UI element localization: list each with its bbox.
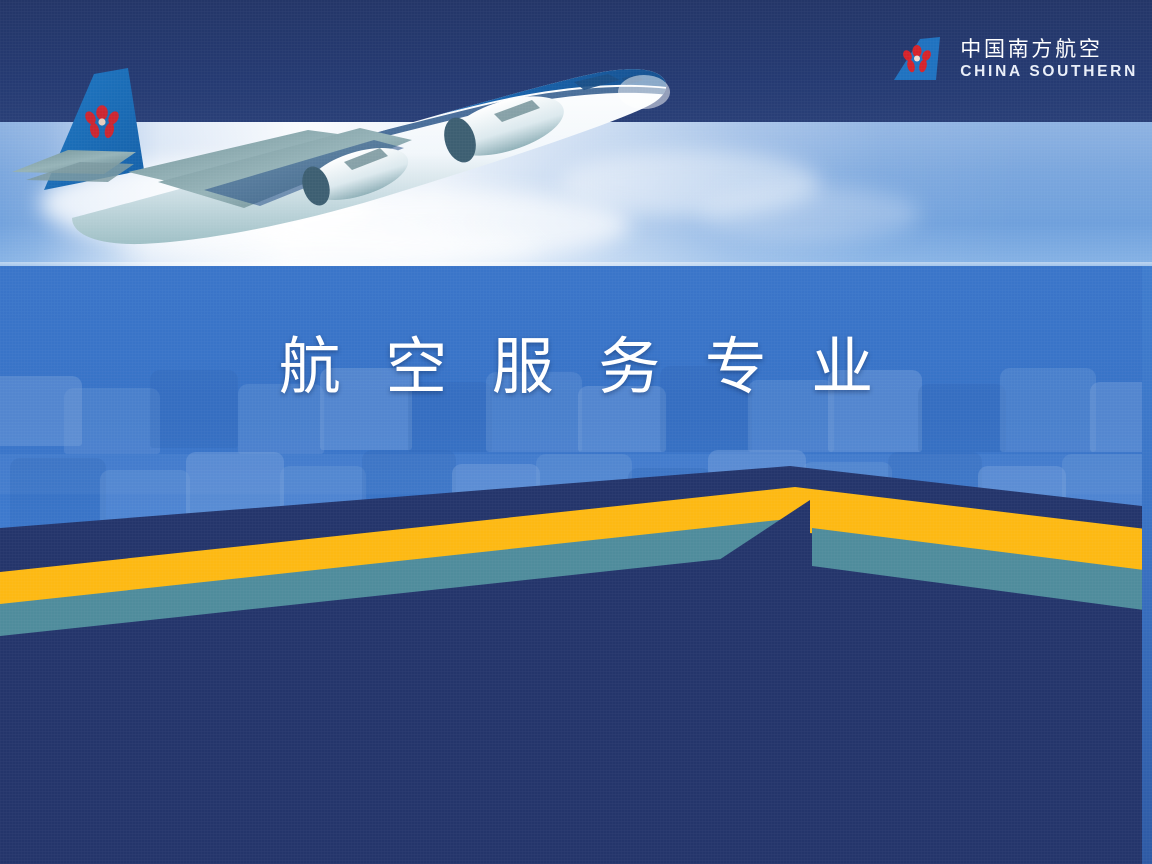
- china-southern-tail-kapok-icon: [886, 34, 948, 86]
- logo-wordmark: 中国南方航空 CHINA SOUTHERN: [960, 38, 1138, 82]
- logo-name-en: CHINA SOUTHERN: [960, 63, 1138, 82]
- china-southern-logo: 中国南方航空 CHINA SOUTHERN: [886, 34, 1138, 86]
- logo-name-cn: 中国南方航空: [960, 38, 1138, 62]
- presentation-slide: 中国南方航空: [0, 0, 1152, 864]
- page-title: 航 空 服 务 专 业: [0, 330, 1152, 403]
- chevron-ribbon-icon: [0, 0, 1152, 864]
